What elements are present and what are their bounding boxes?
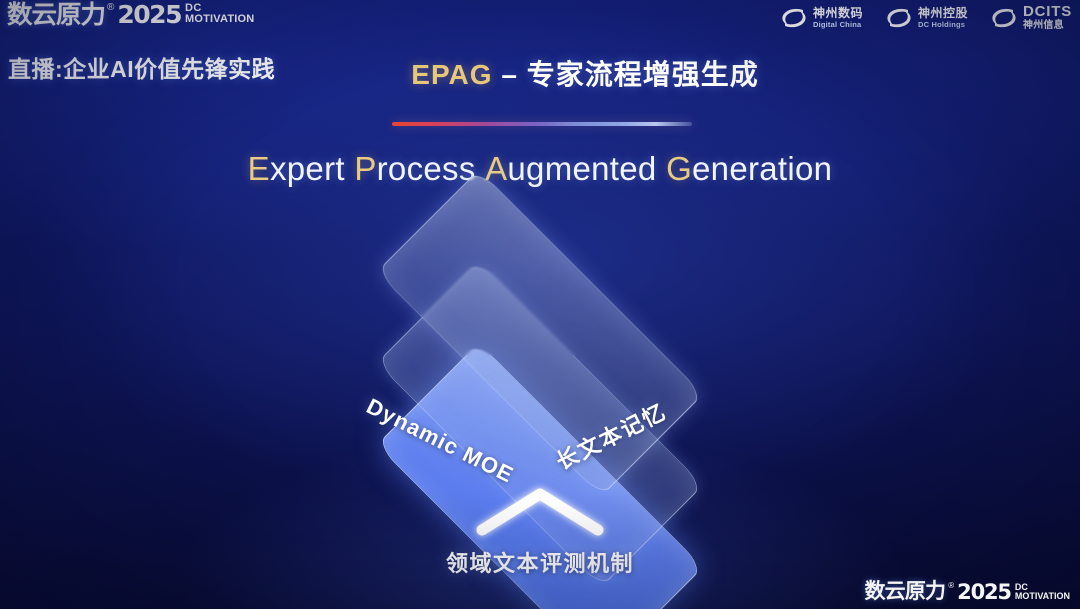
partner-name-en: DC Holdings: [918, 21, 968, 29]
partner-name-en: 神州信息: [1023, 21, 1072, 31]
brand-dc-motivation: DC MOTIVATION: [185, 3, 254, 25]
footer-brand-cn: 数云原力: [864, 581, 945, 603]
swirl-logo-icon: [990, 6, 1018, 30]
layered-stack-diagram: 领域文本评测机制 Dynamic MOE 长文本记忆 三类语义建模模块: [270, 215, 810, 585]
footer-year: 2025: [957, 581, 1011, 603]
partner-name-cn: DCITS: [1023, 4, 1072, 19]
brand-dc-line2: MOTIVATION: [185, 13, 254, 25]
brand-dc-line1: DC: [185, 3, 254, 13]
partner-logo-dc-holdings: 神州控股 DC Holdings: [885, 6, 968, 30]
slide-stage: 数云原力 ® 2025 DC MOTIVATION 直播:企业AI价值先锋实践 …: [0, 0, 1080, 609]
subtitle-word4-rest: eneration: [692, 150, 832, 187]
partner-name-en: Digital China: [813, 21, 863, 29]
partner-logo-dcits: DCITS 神州信息: [990, 4, 1072, 31]
subtitle-word1-rest: xpert: [270, 150, 345, 187]
subtitle-english: Expert Process Augmented Generation: [0, 150, 1080, 188]
title-dash: –: [493, 59, 527, 90]
title-chinese: 专家流程增强生成: [527, 59, 759, 90]
slide-title: EPAG – 专家流程增强生成: [0, 53, 1080, 93]
partner-logo-digital-china: 神州数码 Digital China: [780, 6, 863, 30]
footer-registered-mark: ®: [948, 581, 954, 591]
partner-logo-group: 神州数码 Digital China 神州控股 DC Holdings: [780, 4, 1072, 31]
partner-name-cn: 神州控股: [918, 7, 968, 19]
title-divider-rule: [392, 122, 692, 126]
brand-registered-mark: ®: [107, 2, 114, 14]
plate-group: [270, 215, 810, 585]
brand-name-cn: 数云原力: [7, 2, 105, 28]
subtitle-word1-cap: E: [248, 150, 270, 187]
footer-dc-motivation: DC MOTIVATION: [1015, 583, 1070, 601]
brand-year: 2025: [117, 2, 181, 28]
title-acronym: EPAG: [411, 59, 492, 90]
swirl-logo-icon: [780, 6, 808, 30]
footer-watermark: 数云原力 ® 2025 DC MOTIVATION: [864, 581, 1070, 603]
subtitle-word2-rest: rocess: [377, 150, 476, 187]
footer-dc-line1: DC: [1015, 583, 1070, 591]
subtitle-word4-cap: G: [666, 150, 692, 187]
footer-dc-line2: MOTIVATION: [1015, 591, 1070, 601]
partner-name-cn: 神州数码: [813, 7, 863, 19]
subtitle-word2-cap: P: [354, 150, 376, 187]
brand-lockup: 数云原力 ® 2025 DC MOTIVATION: [8, 2, 254, 28]
swirl-logo-icon: [885, 6, 913, 30]
subtitle-word3-rest: ugmented: [507, 150, 656, 187]
